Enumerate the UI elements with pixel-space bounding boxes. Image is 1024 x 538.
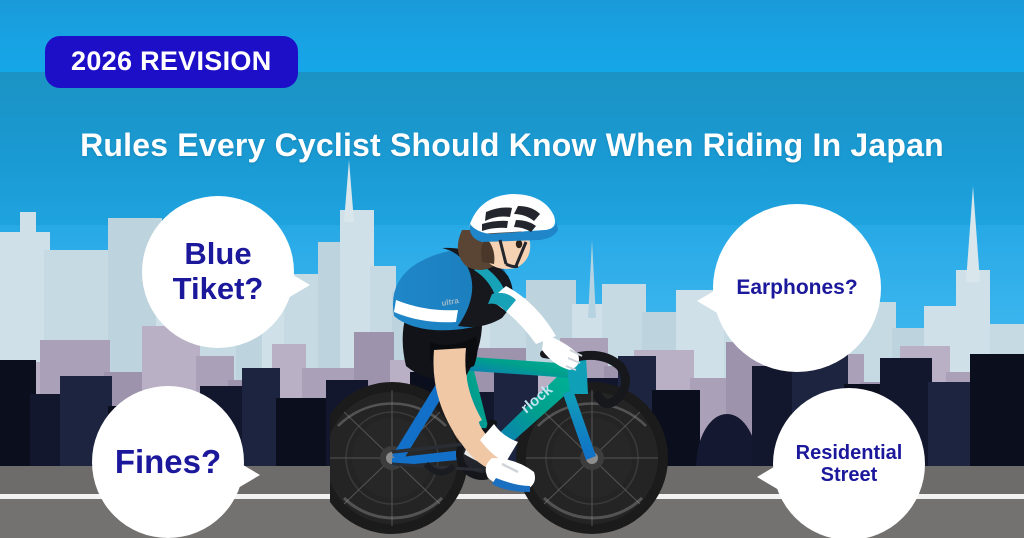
cyclist-illustration: rlock — [330, 190, 690, 538]
bubble-tail-icon — [757, 464, 779, 490]
bubble-blue-ticket[interactable]: Blue Tiket? — [142, 196, 294, 348]
bubble-earphones[interactable]: Earphones? — [713, 204, 881, 372]
bubble-fines[interactable]: Fines? — [92, 386, 244, 538]
page-title: Rules Every Cyclist Should Know When Rid… — [0, 127, 1024, 164]
tower-spire-icon — [966, 186, 980, 282]
bubble-fines-label: Fines? — [115, 444, 221, 481]
bubble-blue-ticket-label: Blue Tiket? — [173, 237, 264, 306]
rider-head — [458, 194, 558, 270]
bubble-residential-label: Residential Street — [796, 442, 903, 487]
bubble-tail-icon — [288, 272, 310, 298]
revision-badge: 2026 REVISION — [45, 36, 298, 88]
bubble-tail-icon — [238, 462, 260, 488]
bubble-earphones-label: Earphones? — [736, 276, 857, 300]
bubble-tail-icon — [697, 288, 719, 314]
bubble-residential-street[interactable]: Residential Street — [773, 388, 925, 538]
banner-root: rlock — [0, 0, 1024, 538]
rider-arm — [488, 286, 582, 370]
